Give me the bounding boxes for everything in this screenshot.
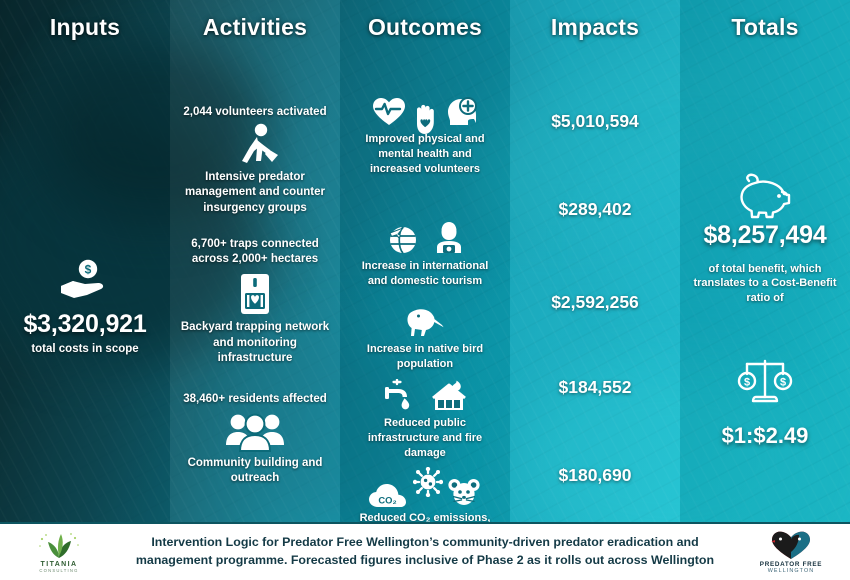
activity-lead: 6,700+ traps connected across 2,000+ hec… <box>170 237 340 267</box>
globe-airplane-icon <box>387 224 417 254</box>
titania-consulting-logo: TITANIA CONSULTING <box>0 532 118 573</box>
activity-item: 2,044 volunteers activated Intensive pre… <box>170 105 340 216</box>
water-tap-icon <box>383 379 415 411</box>
worker-digging-icon <box>170 123 340 167</box>
column-activities: Activities 2,044 volunteers activated <box>170 0 340 522</box>
outcome-caption: Reduced public infrastructure and fire d… <box>340 416 510 461</box>
outcome-item: Reduced public infrastructure and fire d… <box>340 379 510 461</box>
footer-caption: Intervention Logic for Predator Free Wel… <box>118 534 732 570</box>
activity-lead: 38,460+ residents affected <box>170 392 340 407</box>
outcome-item: Increase in native bird population <box>340 305 510 372</box>
outcome-item: Increase in international and domestic t… <box>340 222 510 289</box>
impact-value: $180,690 <box>510 465 680 486</box>
activity-caption: Intensive predator management and counte… <box>170 170 340 216</box>
virus-icon <box>413 467 443 497</box>
impact-value: $5,010,594 <box>510 111 680 132</box>
inputs-value: $3,320,921 <box>0 311 170 339</box>
totals-ratio: $1:$2.49 <box>680 423 850 449</box>
impact-value: $184,552 <box>510 377 680 398</box>
kiwi-bird-icon <box>340 305 510 337</box>
column-inputs: Inputs $ $3,320,921 total costs in scope <box>0 0 170 522</box>
svg-text:$: $ <box>85 262 92 276</box>
outcome-icon-group <box>340 97 510 127</box>
piggy-bank-icon <box>680 172 850 220</box>
predator-free-wellington-logo: PREDATOR FREE WELLINGTON <box>732 530 850 574</box>
trap-box-icon <box>170 271 340 317</box>
leaf-sparkle-icon <box>37 532 81 560</box>
outcome-icon-group <box>340 379 510 411</box>
pfw-logo-title: PREDATOR FREE <box>760 561 822 568</box>
activity-caption: Community building and outreach <box>170 456 340 486</box>
column-totals: Totals $8,257,494 <box>680 0 850 522</box>
svg-text:CO₂: CO₂ <box>378 494 396 505</box>
pfw-logo-subtitle: WELLINGTON <box>768 568 815 574</box>
outcome-item: Improved physical and mental health and … <box>340 97 510 177</box>
rodent-icon <box>447 477 481 507</box>
titania-logo-title: TITANIA <box>41 561 78 568</box>
columns-container: Inputs $ $3,320,921 total costs in scope <box>0 0 850 522</box>
inputs-caption: total costs in scope <box>0 342 170 357</box>
impact-value: $2,592,256 <box>510 292 680 313</box>
balance-scales-dollar-icon: $ $ <box>680 357 850 409</box>
activity-lead: 2,044 volunteers activated <box>170 105 340 120</box>
totals-value: $8,257,494 <box>680 222 850 250</box>
column-title-outcomes: Outcomes <box>340 14 510 41</box>
outcome-icon-group <box>340 222 510 254</box>
bird-heart-icon <box>769 530 813 560</box>
svg-text:$: $ <box>780 377 786 389</box>
activity-item: 6,700+ traps connected across 2,000+ hec… <box>170 237 340 366</box>
column-title-impacts: Impacts <box>510 14 680 41</box>
hand-holding-dollar-icon: $ <box>0 259 170 305</box>
co2-cloud-icon: CO₂ <box>369 484 409 510</box>
impact-value: $289,402 <box>510 199 680 220</box>
titania-logo-subtitle: CONSULTING <box>39 568 78 573</box>
outcome-icon-group: CO₂ <box>340 467 510 507</box>
community-people-icon <box>170 411 340 453</box>
outcome-caption: Improved physical and mental health and … <box>340 132 510 177</box>
outcome-caption: Increase in international and domestic t… <box>340 259 510 289</box>
tourist-camera-icon <box>435 222 463 254</box>
activity-item: 38,460+ residents affected Community bui… <box>170 392 340 487</box>
footer-bar: TITANIA CONSULTING Intervention Logic fo… <box>0 522 850 580</box>
column-title-activities: Activities <box>170 14 340 41</box>
column-impacts: Impacts $5,010,594 $289,402 $2,592,256 $… <box>510 0 680 522</box>
heart-pulse-icon <box>372 97 406 127</box>
column-title-inputs: Inputs <box>0 14 170 41</box>
totals-caption: of total benefit, which translates to a … <box>680 262 850 307</box>
head-plus-icon <box>446 97 478 127</box>
infographic-root: Inputs $ $3,320,921 total costs in scope <box>0 0 850 580</box>
column-title-totals: Totals <box>680 14 850 41</box>
house-fire-icon <box>431 379 467 411</box>
svg-text:$: $ <box>744 377 750 389</box>
column-outcomes: Outcomes <box>340 0 510 522</box>
helping-hand-icon <box>412 103 440 135</box>
activity-caption: Backyard trapping network and monitoring… <box>170 320 340 366</box>
outcome-caption: Increase in native bird population <box>340 342 510 372</box>
